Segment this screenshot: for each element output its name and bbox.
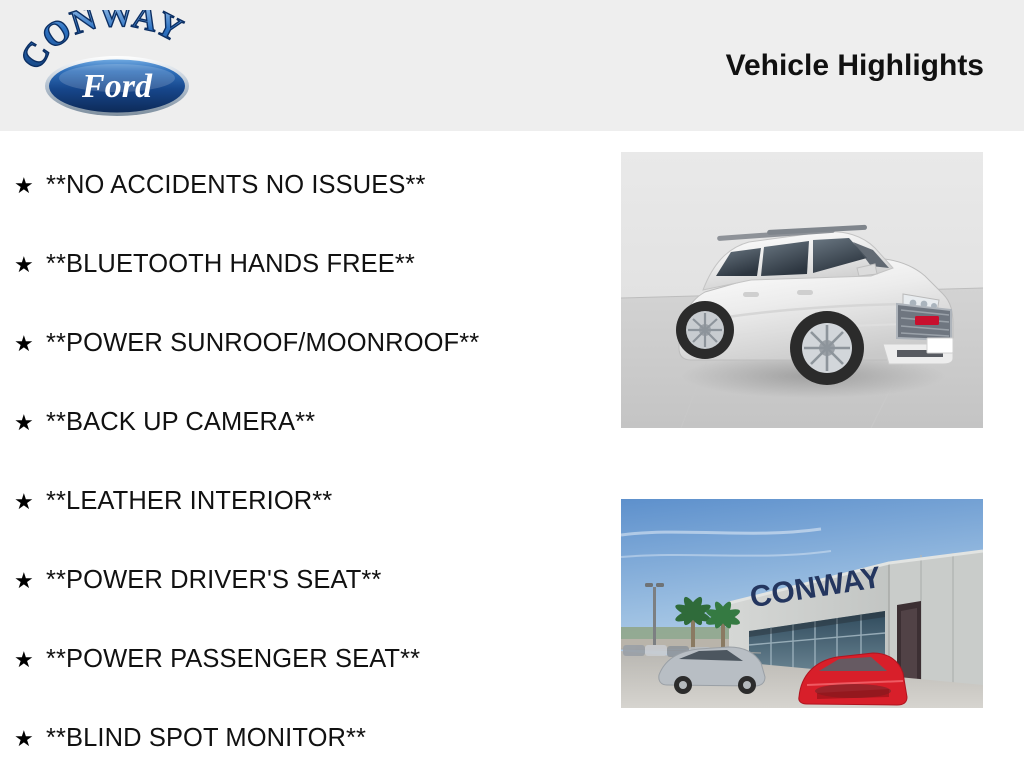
list-item: ★ **LEATHER INTERIOR**: [14, 462, 604, 541]
list-item-label: **LEATHER INTERIOR**: [46, 487, 332, 516]
list-item-label: **POWER DRIVER'S SEAT**: [46, 566, 381, 595]
list-item: ★ **POWER PASSENGER SEAT**: [14, 620, 604, 699]
vehicle-photo: [621, 152, 983, 428]
list-item-label: **POWER PASSENGER SEAT**: [46, 645, 420, 674]
vehicle-highlights-list: ★ **NO ACCIDENTS NO ISSUES** ★ **BLUETOO…: [14, 146, 604, 768]
license-plate: [927, 338, 953, 353]
star-icon: ★: [14, 728, 46, 750]
conway-ford-logo: CONWAY Ford: [22, 10, 212, 120]
vehicle-highlights-page: CONWAY Ford Vehicle Highlights ★ **NO AC…: [0, 0, 1024, 768]
gmc-badge: [915, 316, 939, 325]
list-item: ★ **POWER DRIVER'S SEAT**: [14, 541, 604, 620]
list-item-label: **BLIND SPOT MONITOR**: [46, 724, 366, 753]
logo-ford-script: Ford: [81, 68, 153, 105]
list-item: ★ **BLIND SPOT MONITOR**: [14, 699, 604, 768]
star-icon: ★: [14, 570, 46, 592]
star-icon: ★: [14, 333, 46, 355]
list-item: ★ **NO ACCIDENTS NO ISSUES**: [14, 146, 604, 225]
list-item: ★ **BLUETOOTH HANDS FREE**: [14, 225, 604, 304]
page-header: CONWAY Ford Vehicle Highlights: [0, 0, 1024, 131]
list-item: ★ **POWER SUNROOF/MOONROOF**: [14, 304, 604, 383]
star-icon: ★: [14, 254, 46, 276]
star-icon: ★: [14, 175, 46, 197]
star-icon: ★: [14, 412, 46, 434]
list-item-label: **BLUETOOTH HANDS FREE**: [46, 250, 415, 279]
dealership-photo: CONWAY: [621, 499, 983, 708]
page-title: Vehicle Highlights: [726, 49, 984, 83]
list-item: ★ **BACK UP CAMERA**: [14, 383, 604, 462]
star-icon: ★: [14, 649, 46, 671]
list-item-label: **BACK UP CAMERA**: [46, 408, 315, 437]
rear-wheel: [676, 301, 734, 359]
star-icon: ★: [14, 491, 46, 513]
list-item-label: **NO ACCIDENTS NO ISSUES**: [46, 171, 426, 200]
logo-ford-oval: Ford: [45, 56, 189, 116]
front-wheel: [790, 311, 864, 385]
list-item-label: **POWER SUNROOF/MOONROOF**: [46, 329, 479, 358]
